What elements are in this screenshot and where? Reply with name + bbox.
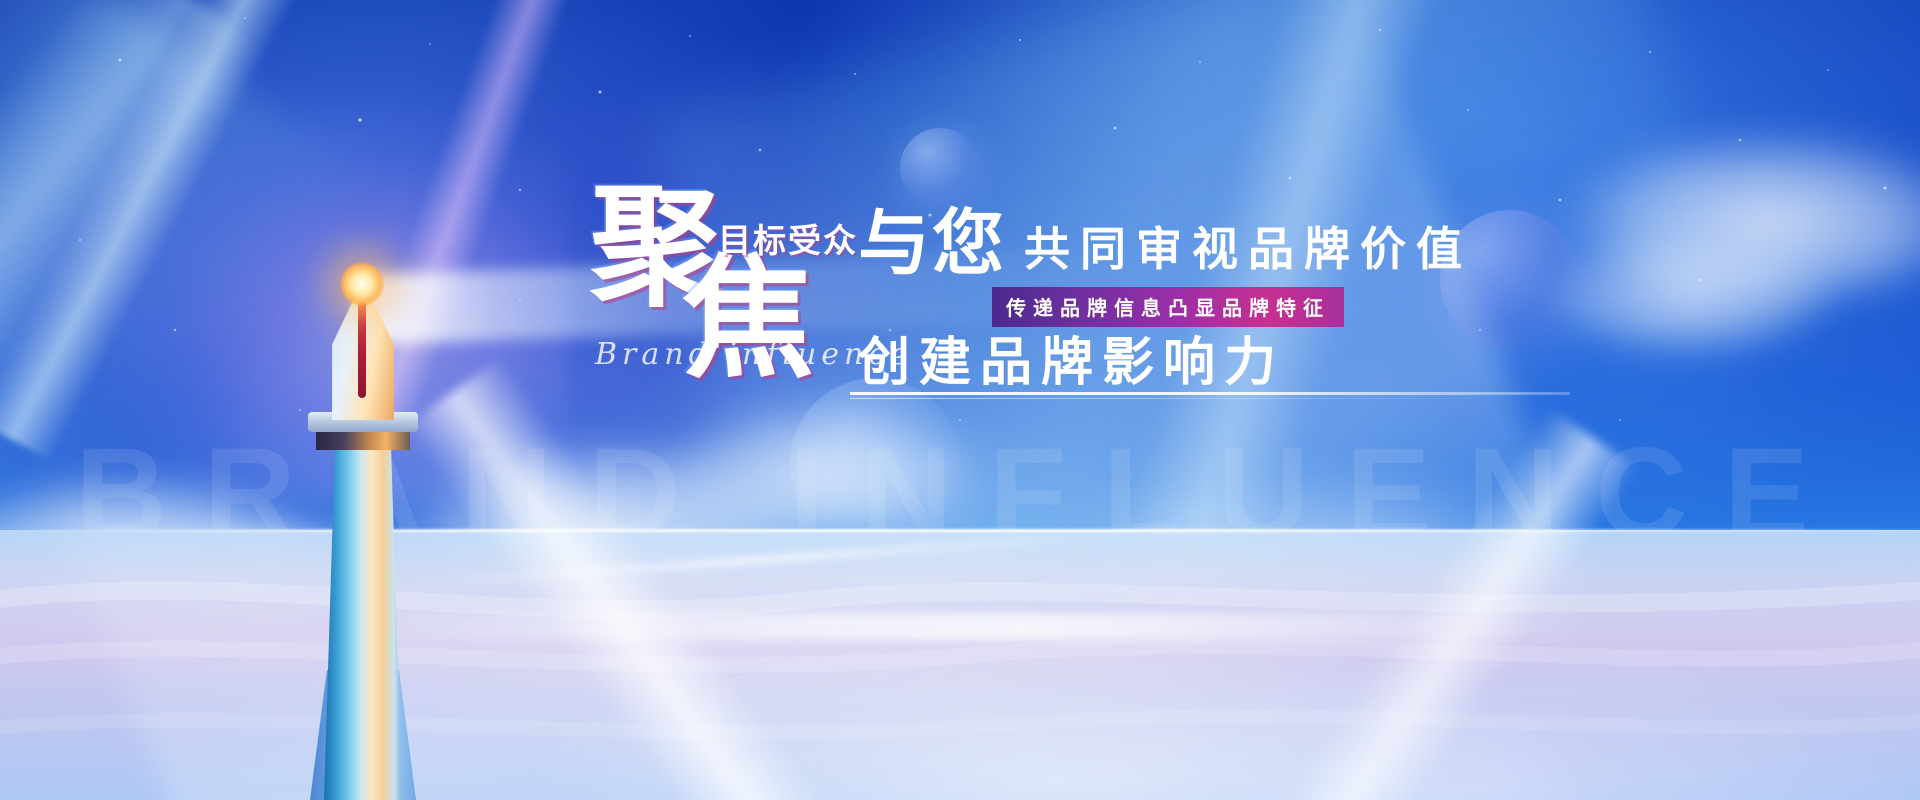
divider-rule-thin: [850, 398, 1490, 399]
pen-nib-slit: [358, 292, 366, 398]
headline-row: 与您 共同审视品牌价值: [858, 210, 1472, 278]
lighthouse-illustration: [300, 240, 500, 800]
sea-glow: [0, 530, 1920, 800]
headline-line2: 创建品牌影响力: [858, 320, 1285, 395]
beacon-light-icon: [340, 262, 384, 306]
audience-tag: 目标受众: [718, 214, 858, 262]
headline-line1: 共同审视品牌价值: [1024, 226, 1472, 278]
horizon-line: [0, 529, 1920, 532]
lighthouse-tower: [324, 448, 402, 800]
brand-banner: BRAND INFLUENCE 聚 焦 目标受众 Brand influence…: [0, 0, 1920, 800]
copy-block: 聚 焦 目标受众 Brand influence 与您 共同审视品牌价值 传递品…: [700, 182, 1860, 422]
headline-lead: 与您: [858, 210, 1006, 278]
lighthouse-collar-dark: [316, 430, 410, 450]
divider-rule: [850, 392, 1570, 395]
